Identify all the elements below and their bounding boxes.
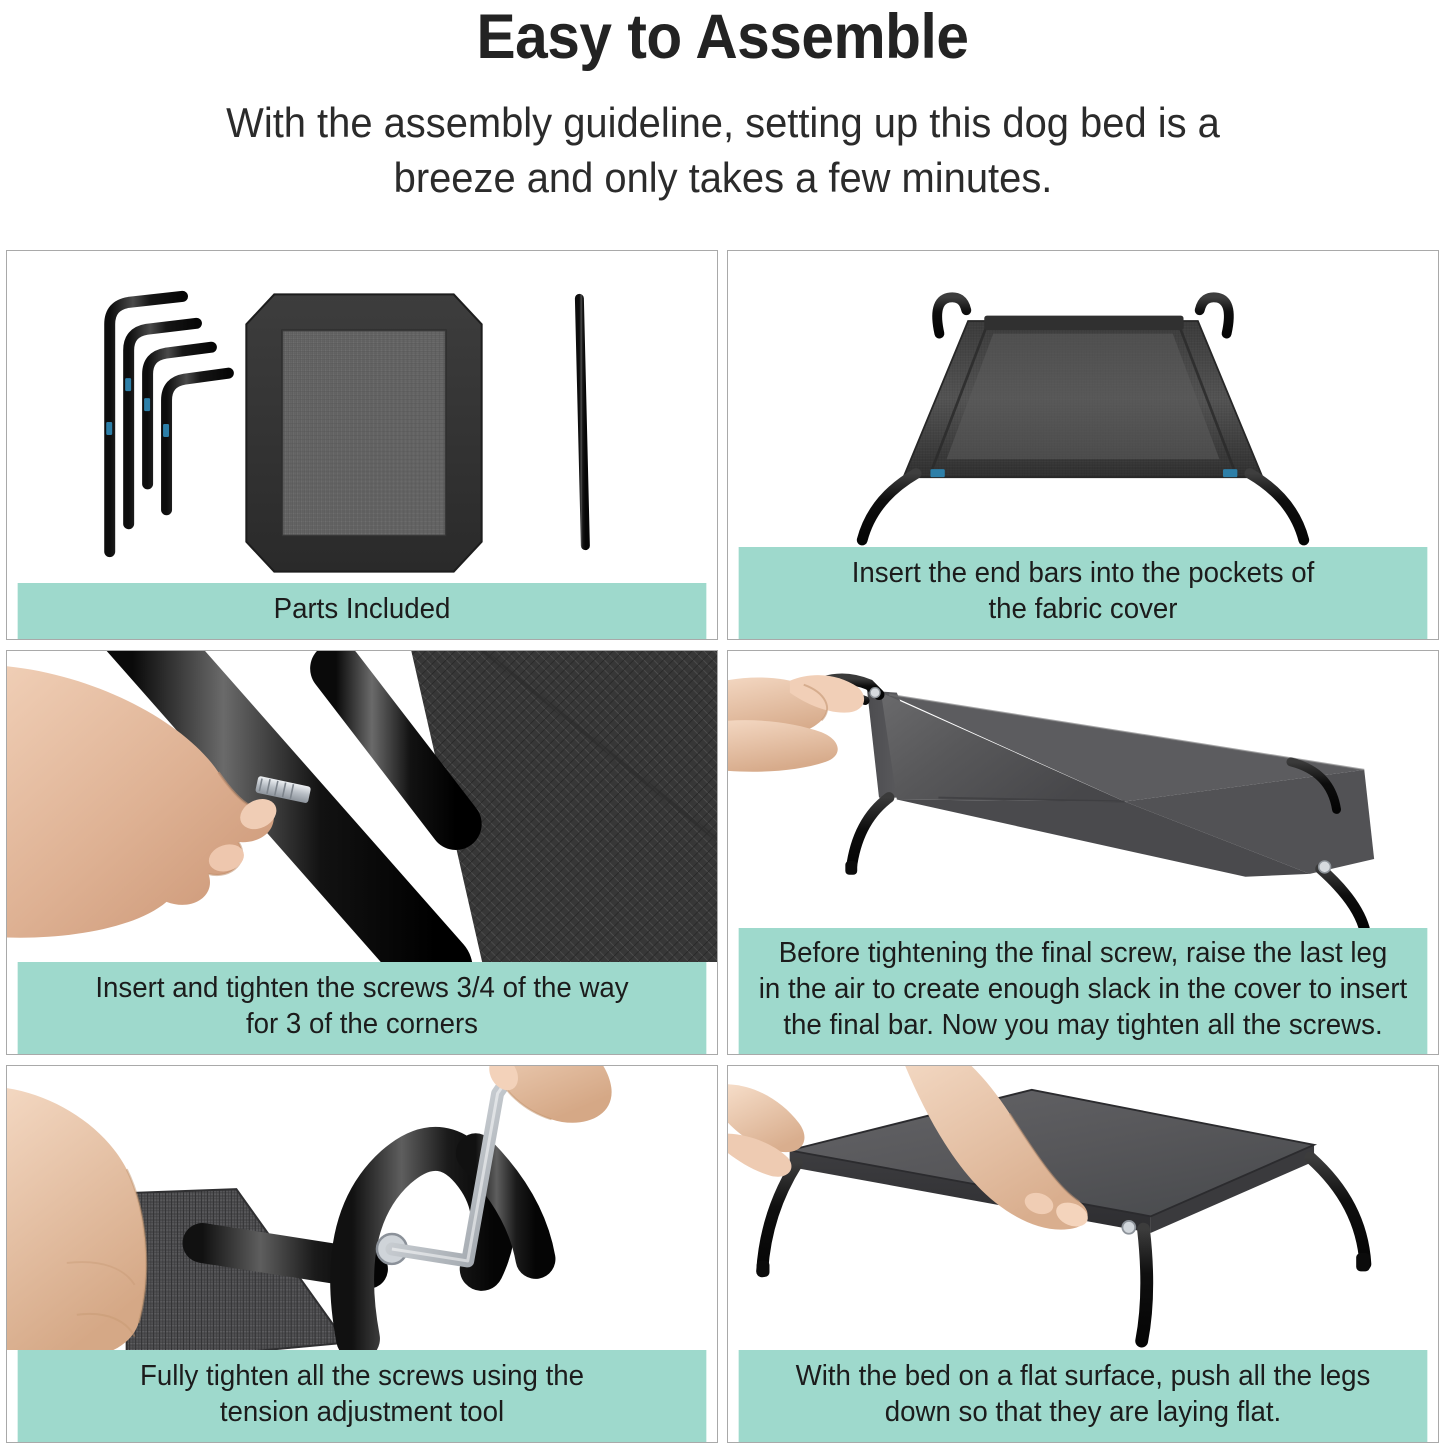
caption-push-legs-flat: With the bed on a flat surface, push all… (739, 1350, 1428, 1442)
page-title: Easy to Assemble (51, 2, 1395, 73)
part-mesh-fabric-cover (246, 294, 481, 571)
panel-push-legs-flat: With the bed on a flat surface, push all… (727, 1065, 1439, 1443)
figure-hands-raising-last-leg (728, 651, 1438, 928)
figure-exploded-parts-layout (7, 251, 717, 583)
panel-fully-tighten-screws: Fully tighten all the screws using the t… (6, 1065, 718, 1443)
assembly-steps-grid: Parts Included (6, 250, 1439, 1443)
panel-raise-last-leg: Before tightening the final screw, raise… (727, 650, 1439, 1055)
figure-hand-inserting-screw-closeup (7, 651, 717, 962)
caption-fully-tighten-screws: Fully tighten all the screws using the t… (18, 1350, 707, 1442)
figure-bed-frame-with-end-bars (728, 251, 1438, 547)
panel-parts-included: Parts Included (6, 250, 718, 640)
frame-front-legs (862, 474, 1304, 540)
caption-tighten-three-corners: Insert and tighten the screws 3/4 of the… (18, 962, 707, 1054)
caption-raise-last-leg: Before tightening the final screw, raise… (739, 928, 1428, 1054)
part-straight-side-bar-group (551, 298, 585, 545)
figure-finished-bed-hand-pressing (728, 1066, 1438, 1350)
header: Easy to Assemble With the assembly guide… (0, 0, 1445, 205)
mesh-sleeping-surface (903, 316, 1262, 478)
page-subtitle: With the assembly guideline, setting up … (186, 95, 1260, 206)
caption-parts-included: Parts Included (18, 583, 707, 639)
part-curved-leg-group (106, 296, 228, 551)
panel-tighten-three-corners: Insert and tighten the screws 3/4 of the… (6, 650, 718, 1055)
figure-hex-key-tightening-closeup (7, 1066, 717, 1350)
corner-screw (1122, 1221, 1135, 1234)
panel-insert-end-bars: Insert the end bars into the pockets of … (727, 250, 1439, 640)
caption-insert-end-bars: Insert the end bars into the pockets of … (739, 547, 1428, 639)
